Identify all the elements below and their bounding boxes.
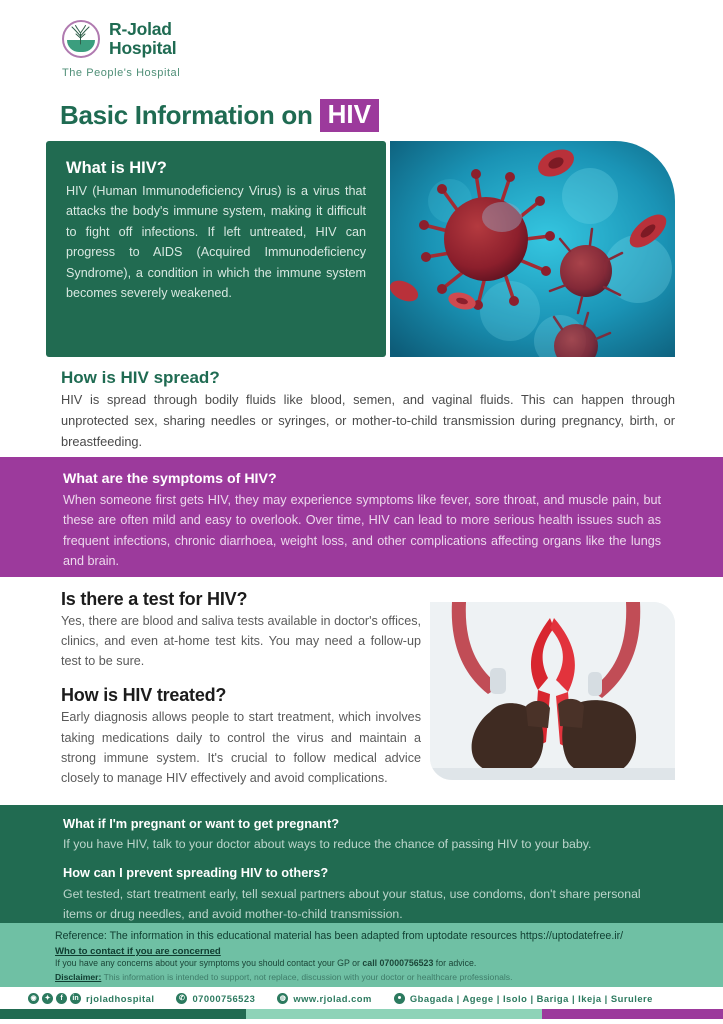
pregnancy-prevention-band: What if I'm pregnant or want to get preg… xyxy=(0,805,723,923)
poster-page: R-Jolad Hospital The People's Hospital B… xyxy=(0,0,723,1024)
brand-line-2: Hospital xyxy=(109,40,176,58)
globe-icon: ◍ xyxy=(277,993,288,1004)
linkedin-icon[interactable]: in xyxy=(70,993,81,1004)
hiv-spread-section: How is HIV spread? HIV is spread through… xyxy=(61,368,675,453)
location-pin-icon xyxy=(394,993,405,1004)
test-block: Is there a test for HIV? Yes, there are … xyxy=(61,589,421,671)
concern-pre: If you have any concerns about your symp… xyxy=(55,958,362,968)
prevent-body: Get tested, start treatment early, tell … xyxy=(63,885,661,924)
instagram-icon[interactable]: ◉ xyxy=(28,993,39,1004)
social-icons-group: ◉ ✦ f in xyxy=(28,993,81,1004)
doctor-red-ribbon-photo xyxy=(430,602,675,780)
concern-post: for advice. xyxy=(433,958,476,968)
concern-text: If you have any concerns about your symp… xyxy=(55,957,693,970)
phone-group[interactable]: ✆ 07000756523 xyxy=(176,993,255,1004)
pregnancy-body: If you have HIV, talk to your doctor abo… xyxy=(63,835,661,854)
bottom-bar-green xyxy=(0,1009,246,1019)
treatment-body: Early diagnosis allows people to start t… xyxy=(61,707,421,788)
symptoms-body: When someone first gets HIV, they may ex… xyxy=(63,490,661,572)
brand-logo: R-Jolad Hospital xyxy=(62,20,176,58)
website-url: www.rjolad.com xyxy=(293,993,372,1004)
who-to-contact-heading: Who to contact if you are concerned xyxy=(55,946,693,957)
page-title-highlight: HIV xyxy=(320,99,379,132)
brand-line-1: R-Jolad xyxy=(109,21,176,39)
symptoms-band: What are the symptoms of HIV? When someo… xyxy=(0,457,723,577)
facebook-icon[interactable]: f xyxy=(56,993,67,1004)
phone-icon: ✆ xyxy=(176,993,187,1004)
spread-heading: How is HIV spread? xyxy=(61,368,675,388)
disclaimer-label: Disclaimer: xyxy=(55,972,101,982)
hiv-virus-photo xyxy=(390,141,675,357)
locations-list: Gbagada | Agege | Isolo | Bariga | Ikeja… xyxy=(410,993,653,1004)
twitter-icon[interactable]: ✦ xyxy=(42,993,53,1004)
concern-phone: call 07000756523 xyxy=(362,958,433,968)
page-bottom-margin xyxy=(0,1019,723,1024)
treatment-heading: How is HIV treated? xyxy=(61,685,421,706)
locations-group: Gbagada | Agege | Isolo | Bariga | Ikeja… xyxy=(394,993,653,1004)
prevent-heading: How can I prevent spreading HIV to other… xyxy=(63,865,661,880)
website-group[interactable]: ◍ www.rjolad.com xyxy=(277,993,372,1004)
test-body: Yes, there are blood and saliva tests av… xyxy=(61,611,421,671)
brand-wordmark: R-Jolad Hospital xyxy=(109,20,176,57)
what-is-hiv-card: What is HIV? HIV (Human Immunodeficiency… xyxy=(46,141,386,357)
disclaimer-text: Disclaimer: This information is intended… xyxy=(55,971,693,983)
reference-band: Reference: The information in this educa… xyxy=(0,923,723,987)
spread-body: HIV is spread through bodily fluids like… xyxy=(61,390,675,453)
footer-bar: ◉ ✦ f in rjoladhospital ✆ 07000756523 ◍ … xyxy=(0,987,723,1009)
page-title-main: Basic Information on xyxy=(60,100,313,131)
brand-tagline: The People's Hospital xyxy=(62,67,180,79)
pregnancy-heading: What if I'm pregnant or want to get preg… xyxy=(63,816,661,831)
what-is-hiv-body: HIV (Human Immunodeficiency Virus) is a … xyxy=(66,181,366,303)
reference-text: Reference: The information in this educa… xyxy=(55,929,693,945)
bottom-bar-mint xyxy=(246,1009,542,1019)
disclaimer-body: This information is intended to support,… xyxy=(101,972,512,982)
test-heading: Is there a test for HIV? xyxy=(61,589,421,610)
red-ribbon-illustration-icon xyxy=(430,602,675,780)
bottom-color-bar xyxy=(0,1009,723,1019)
page-title: Basic Information on HIV xyxy=(60,99,379,132)
treatment-block: How is HIV treated? Early diagnosis allo… xyxy=(61,685,421,788)
test-treatment-section: Is there a test for HIV? Yes, there are … xyxy=(61,589,421,788)
what-is-hiv-heading: What is HIV? xyxy=(66,159,366,178)
tree-logo-icon xyxy=(62,20,100,58)
virus-illustration-icon xyxy=(390,141,675,357)
social-handle: rjoladhospital xyxy=(86,993,154,1004)
tree-icon xyxy=(64,22,97,55)
bottom-bar-purple xyxy=(542,1009,723,1019)
symptoms-heading: What are the symptoms of HIV? xyxy=(63,471,661,487)
phone-number: 07000756523 xyxy=(192,993,255,1004)
